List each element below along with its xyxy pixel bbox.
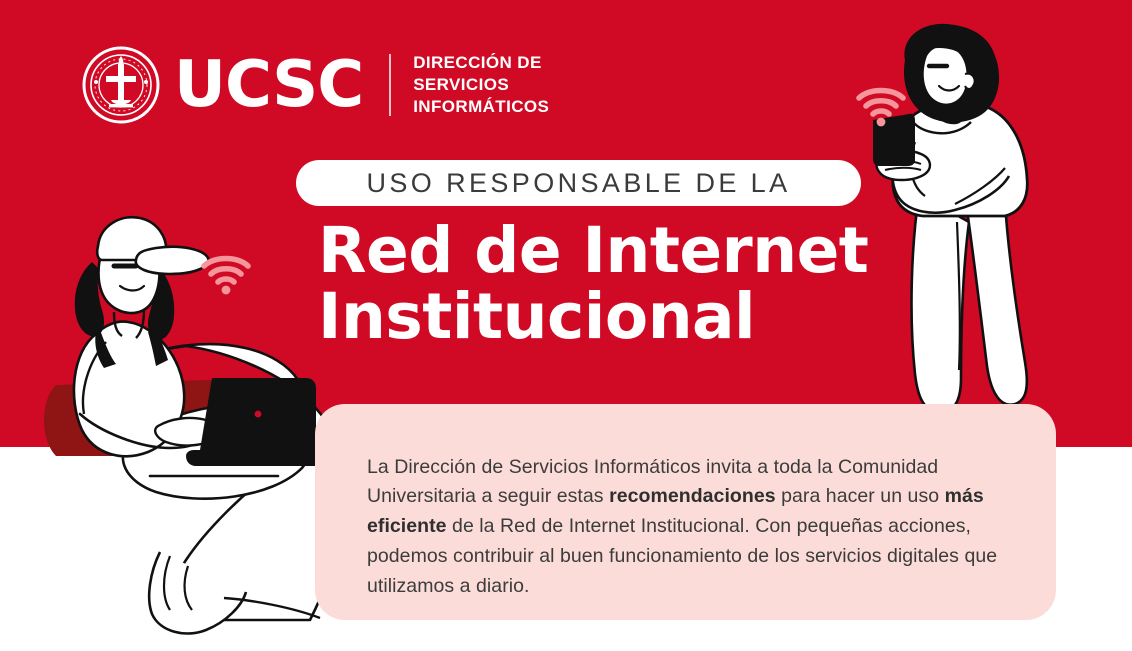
paragraph-bold-1: recomendaciones xyxy=(609,485,776,507)
woman-with-phone-illustration xyxy=(855,18,1085,443)
ucsc-crest-seal-icon xyxy=(82,46,160,124)
wifi-signal-icon xyxy=(855,84,907,133)
poster-root: UCSC DIRECCIÓN DE SERVICIOS INFORMÁTICOS… xyxy=(0,0,1132,651)
ucsc-wordmark: UCSC xyxy=(174,53,363,117)
info-card-paragraph: La Dirección de Servicios Informáticos i… xyxy=(367,453,1027,602)
department-line-2: SERVICIOS xyxy=(413,74,549,96)
wifi-signal-icon xyxy=(200,252,252,301)
paragraph-segment-3: de la Red de Internet Institucional. Con… xyxy=(367,515,997,597)
title-line-1: Red de Internet xyxy=(318,214,868,287)
department-line-1: DIRECCIÓN DE xyxy=(413,52,549,74)
department-name: DIRECCIÓN DE SERVICIOS INFORMÁTICOS xyxy=(413,52,549,117)
logo-lockup: UCSC DIRECCIÓN DE SERVICIOS INFORMÁTICOS xyxy=(82,42,549,128)
eyebrow-text: USO RESPONSABLE DE LA xyxy=(366,168,790,199)
paragraph-segment-2: para hacer un uso xyxy=(776,485,945,507)
page-title: Red de Internet Institucional xyxy=(318,218,878,349)
info-card: La Dirección de Servicios Informáticos i… xyxy=(315,404,1056,620)
eyebrow-pill: USO RESPONSABLE DE LA xyxy=(296,160,861,206)
department-line-3: INFORMÁTICOS xyxy=(413,96,549,118)
title-line-2: Institucional xyxy=(318,284,878,350)
logo-divider xyxy=(389,54,391,116)
